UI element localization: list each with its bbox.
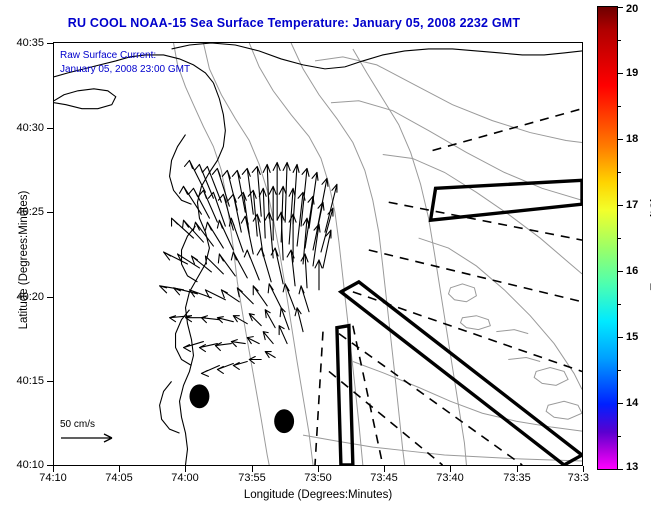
radial-beam-lines	[315, 109, 582, 465]
scale-reference-arrow-icon	[60, 431, 122, 445]
figure-title: RU COOL NOAA-15 Sea Surface Temperature:…	[0, 16, 588, 30]
colorbar-minor-tick	[618, 40, 621, 41]
colorbar-tick	[618, 403, 623, 404]
colorbar-tick-label: 15	[626, 331, 638, 343]
colorbar-minor-tick	[618, 304, 621, 305]
y-tick-label: 40:35	[0, 37, 44, 49]
colorbar-tick	[618, 139, 623, 140]
colorbar-tick-label: 19	[626, 67, 638, 79]
colorbar-tick	[618, 7, 623, 8]
x-tick-label: 74:10	[39, 472, 67, 484]
colorbar-tick-label: 13	[626, 461, 638, 473]
colorbar-tick-label: 14	[626, 397, 638, 409]
colorbar-tick-label: 16	[626, 265, 638, 277]
colorbar-tick-label: 17	[626, 199, 638, 211]
colorbar-tick	[618, 271, 623, 272]
colorbar-gradient	[598, 7, 617, 469]
colorbar-tick-label: 20	[626, 3, 638, 15]
colorbar-minor-tick	[618, 238, 621, 239]
y-tick	[47, 128, 53, 129]
y-tick	[47, 297, 53, 298]
x-tick-label: 74:05	[105, 472, 133, 484]
y-tick	[47, 43, 53, 44]
map-canvas	[54, 43, 582, 465]
x-tick-label: 73:40	[436, 472, 464, 484]
colorbar-tick-label: 18	[626, 133, 638, 145]
y-tick-label: 40:30	[0, 122, 44, 134]
scale-legend-label: 50 cm/s	[60, 418, 122, 431]
colorbar-tick	[618, 337, 623, 338]
colorbar-minor-tick	[618, 370, 621, 371]
y-tick	[47, 212, 53, 213]
colorbar-minor-tick	[618, 436, 621, 437]
y-tick	[47, 381, 53, 382]
station-markers	[189, 384, 294, 433]
map-plot-area[interactable]: Raw Surface Current: January 05, 2008 23…	[53, 42, 583, 466]
x-tick-label: 73:55	[238, 472, 266, 484]
x-tick-label: 73:50	[304, 472, 332, 484]
sst-map-figure: RU COOL NOAA-15 Sea Surface Temperature:…	[0, 0, 651, 518]
y-axis-label: Latitude (Degrees:Minutes)	[18, 150, 30, 370]
colorbar-minor-tick	[618, 172, 621, 173]
y-tick-label: 40:10	[0, 459, 44, 471]
colorbar-tick	[618, 469, 623, 470]
y-tick	[47, 465, 53, 466]
y-tick-label: 40:15	[0, 375, 44, 387]
vector-scale-legend: 50 cm/s	[60, 418, 122, 449]
colorbar-minor-tick	[618, 106, 621, 107]
temperature-colorbar[interactable]	[597, 6, 618, 470]
x-tick-label: 73:35	[503, 472, 531, 484]
x-tick-label: 73:45	[370, 472, 398, 484]
colorbar-tick	[618, 73, 623, 74]
x-tick-label: 73:3	[568, 472, 589, 484]
x-tick-label: 74:00	[171, 472, 199, 484]
colorbar-tick	[618, 205, 623, 206]
x-axis-label: Longitude (Degrees:Minutes)	[53, 489, 583, 501]
